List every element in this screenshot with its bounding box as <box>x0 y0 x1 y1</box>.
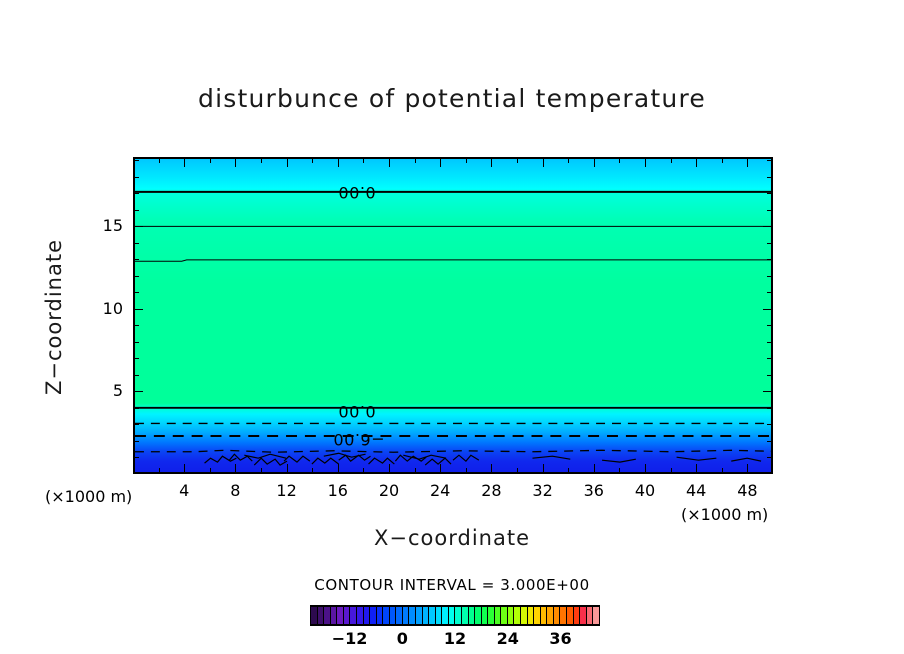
x-tick-mark <box>389 464 390 473</box>
y-tick-mark <box>134 408 139 409</box>
x-tick-mark <box>619 468 620 473</box>
colorbar-cell <box>554 607 560 624</box>
colorbar-cell <box>429 607 435 624</box>
y-tick-mark-right <box>767 457 772 458</box>
y-tick-mark-right <box>767 276 772 277</box>
x-tick-mark-top <box>466 158 467 163</box>
x-tick-label: 12 <box>267 481 307 500</box>
colorbar-cell <box>528 607 534 624</box>
x-tick-label: 44 <box>676 481 716 500</box>
x-tick-mark <box>722 468 723 473</box>
colorbar-cell <box>534 607 540 624</box>
y-tick-mark <box>134 358 139 359</box>
colorbar-cell <box>383 607 389 624</box>
contour-line-overlay <box>135 159 771 472</box>
y-tick-label: 10 <box>93 299 123 318</box>
colorbar-cell <box>436 607 442 624</box>
y-tick-mark-right <box>767 325 772 326</box>
y-tick-mark-right <box>767 177 772 178</box>
y-tick-mark-right <box>767 424 772 425</box>
x-tick-label: 48 <box>727 481 767 500</box>
y-tick-mark-right <box>767 160 772 161</box>
x-tick-mark-top <box>696 158 697 167</box>
y-tick-mark <box>134 309 143 310</box>
x-tick-label: 16 <box>318 481 358 500</box>
x-tick-label: 4 <box>164 481 204 500</box>
x-tick-mark <box>594 464 595 473</box>
x-tick-mark-top <box>287 158 288 167</box>
y-tick-mark <box>134 160 139 161</box>
colorbar-cell <box>469 607 475 624</box>
x-tick-mark-top <box>594 158 595 167</box>
colorbar-cell <box>416 607 422 624</box>
x-tick-label: 40 <box>625 481 665 500</box>
y-tick-mark <box>134 441 139 442</box>
colorbar-cell <box>318 607 324 624</box>
x-tick-mark <box>747 464 748 473</box>
y-tick-mark <box>134 276 139 277</box>
x-tick-mark-top <box>210 158 211 163</box>
colorbar-cell <box>475 607 481 624</box>
colorbar-cell <box>396 607 402 624</box>
x-tick-label: 24 <box>420 481 460 500</box>
x-axis-title: X−coordinate <box>0 526 904 550</box>
y-tick-mark <box>134 210 139 211</box>
x-axis-unit-label: (×1000 m) <box>681 505 768 524</box>
y-tick-mark-right <box>767 243 772 244</box>
y-tick-mark-right <box>767 210 772 211</box>
colorbar-cell <box>311 607 317 624</box>
colorbar-cell <box>390 607 396 624</box>
x-tick-mark-top <box>312 158 313 163</box>
x-tick-mark <box>415 468 416 473</box>
colorbar-cell <box>574 607 580 624</box>
x-tick-mark <box>210 468 211 473</box>
x-tick-mark-top <box>338 158 339 167</box>
y-tick-mark-right <box>767 408 772 409</box>
colorbar-cell <box>541 607 547 624</box>
contour-interval-caption: CONTOUR INTERVAL = 3.000E+00 <box>0 576 904 594</box>
x-tick-mark-top <box>440 158 441 167</box>
y-tick-mark <box>134 226 143 227</box>
colorbar-cell <box>403 607 409 624</box>
x-tick-label: 32 <box>523 481 563 500</box>
colorbar-cell <box>508 607 514 624</box>
x-tick-mark-top <box>184 158 185 167</box>
x-tick-mark <box>696 464 697 473</box>
y-axis-unit-label: (×1000 m) <box>45 487 132 506</box>
x-tick-mark-top <box>159 158 160 163</box>
colorbar-cell <box>521 607 527 624</box>
x-tick-mark <box>184 464 185 473</box>
x-tick-label: 28 <box>471 481 511 500</box>
y-tick-mark-right <box>767 193 772 194</box>
y-tick-mark-right <box>767 375 772 376</box>
y-tick-mark-right <box>767 259 772 260</box>
x-tick-mark-top <box>722 158 723 163</box>
x-tick-mark-top <box>415 158 416 163</box>
y-tick-mark <box>134 243 139 244</box>
y-tick-mark <box>134 292 139 293</box>
colorbar-cell <box>488 607 494 624</box>
x-tick-mark-top <box>645 158 646 167</box>
colorbar-cell <box>449 607 455 624</box>
colorbar-cell <box>337 607 343 624</box>
x-tick-mark-top <box>747 158 748 167</box>
colorbar-cell <box>344 607 350 624</box>
y-tick-label: 5 <box>93 381 123 400</box>
contour-noise-group <box>205 453 762 465</box>
y-tick-mark <box>134 177 139 178</box>
x-tick-label: 8 <box>215 481 255 500</box>
y-tick-mark <box>134 391 143 392</box>
colorbar-cell <box>377 607 383 624</box>
colorbar-tick-label: 12 <box>431 629 479 648</box>
colorbar-cell <box>462 607 468 624</box>
colorbar-tick-label: 36 <box>536 629 584 648</box>
colorbar-cell <box>442 607 448 624</box>
x-tick-mark-top <box>568 158 569 163</box>
colorbar-tick-labels: −120122436 <box>310 629 600 649</box>
x-tick-mark <box>159 468 160 473</box>
x-tick-mark <box>543 464 544 473</box>
x-tick-mark-top <box>619 158 620 163</box>
x-tick-mark <box>440 464 441 473</box>
y-tick-mark-right <box>763 391 772 392</box>
page-title: disturbunce of potential temperature <box>0 84 904 113</box>
x-tick-mark <box>466 468 467 473</box>
x-tick-mark-top <box>671 158 672 163</box>
x-tick-mark-top <box>543 158 544 167</box>
x-tick-label: 20 <box>369 481 409 500</box>
x-tick-mark-top <box>261 158 262 163</box>
y-tick-label: 15 <box>93 216 123 235</box>
x-tick-mark <box>287 464 288 473</box>
colorbar-cell <box>560 607 566 624</box>
colorbar-cell <box>495 607 501 624</box>
colorbar-cell <box>501 607 507 624</box>
x-tick-mark <box>235 464 236 473</box>
y-tick-mark <box>134 342 139 343</box>
x-tick-mark <box>645 464 646 473</box>
colorbar-cell <box>593 607 599 624</box>
colorbar-tick-label: 24 <box>484 629 532 648</box>
contour-label-0-lower: 0.00 <box>338 403 376 419</box>
x-tick-mark <box>568 468 569 473</box>
colorbar-tick-label: −12 <box>326 629 374 648</box>
colorbar-cell <box>423 607 429 624</box>
colorbar-cell <box>370 607 376 624</box>
x-tick-mark-top <box>363 158 364 163</box>
contour-label-minus6: −6.00 <box>333 431 385 447</box>
y-tick-mark-right <box>763 309 772 310</box>
contour-line-dashed <box>135 450 771 452</box>
colorbar <box>310 605 600 626</box>
colorbar-cell <box>482 607 488 624</box>
x-tick-mark <box>338 464 339 473</box>
x-tick-mark-top <box>389 158 390 167</box>
colorbar-cell <box>514 607 520 624</box>
y-tick-mark <box>134 259 139 260</box>
x-tick-mark-top <box>235 158 236 167</box>
colorbar-cell <box>350 607 356 624</box>
colorbar-cell <box>547 607 553 624</box>
contour-label-0-upper: 0.00 <box>338 184 376 200</box>
colorbar-tick-label: 0 <box>378 629 426 648</box>
y-tick-mark-right <box>767 441 772 442</box>
y-tick-mark <box>134 424 139 425</box>
colorbar-cell <box>409 607 415 624</box>
y-tick-mark-right <box>767 342 772 343</box>
colorbar-cell <box>567 607 573 624</box>
y-axis-title: Z−coordinate <box>42 217 66 417</box>
colorbar-cell <box>364 607 370 624</box>
x-tick-mark <box>261 468 262 473</box>
colorbar-cell <box>357 607 363 624</box>
x-tick-mark <box>517 468 518 473</box>
x-tick-mark-top <box>491 158 492 167</box>
y-tick-mark-right <box>767 358 772 359</box>
x-tick-mark <box>671 468 672 473</box>
x-tick-label: 36 <box>574 481 614 500</box>
contour-line-solid <box>135 260 771 261</box>
y-tick-mark-right <box>767 292 772 293</box>
x-tick-mark-top <box>517 158 518 163</box>
colorbar-cell <box>324 607 330 624</box>
colorbar-cell <box>331 607 337 624</box>
x-tick-mark <box>312 468 313 473</box>
y-tick-mark <box>134 457 139 458</box>
contour-plot-area: 0.00 0.00 −6.00 <box>133 157 773 474</box>
colorbar-cell <box>580 607 586 624</box>
y-tick-mark <box>134 193 139 194</box>
y-tick-mark <box>134 325 139 326</box>
x-tick-mark <box>491 464 492 473</box>
y-tick-mark-right <box>763 226 772 227</box>
colorbar-cell <box>587 607 593 624</box>
y-tick-mark <box>134 375 139 376</box>
colorbar-cell <box>455 607 461 624</box>
x-tick-mark <box>363 468 364 473</box>
